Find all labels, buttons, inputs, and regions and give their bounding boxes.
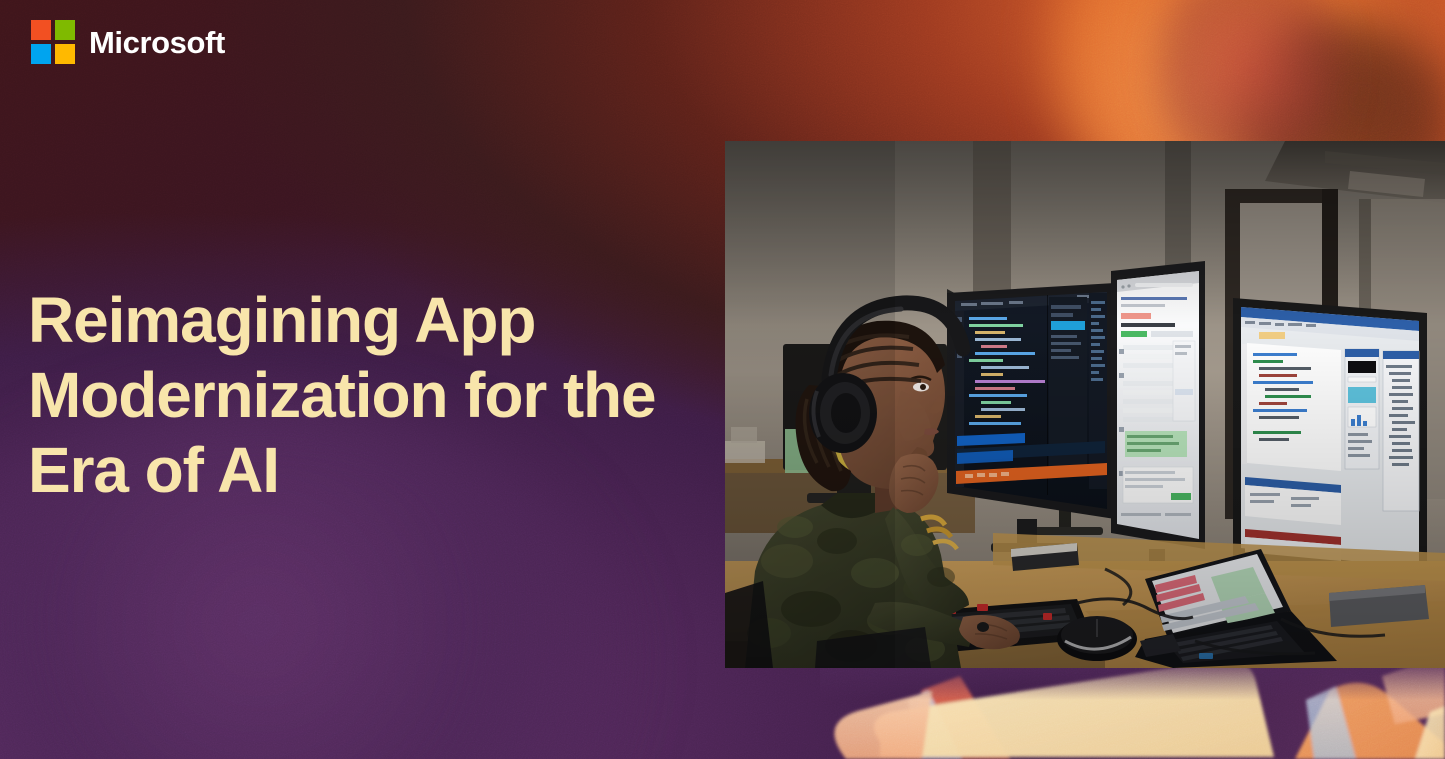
page-title: Reimagining App Modernization for the Er…: [28, 283, 708, 508]
microsoft-logo-icon: [31, 20, 75, 64]
office-developer-photo: [725, 141, 1445, 668]
square-top-left: [31, 20, 51, 40]
square-top-right: [55, 20, 75, 40]
microsoft-wordmark: Microsoft: [89, 27, 225, 58]
slide-root: Microsoft Reimagining App Modernization …: [0, 0, 1445, 759]
photo-illustration: [725, 141, 1445, 668]
square-bottom-right: [55, 44, 75, 64]
microsoft-logo[interactable]: Microsoft: [31, 20, 225, 64]
square-bottom-left: [31, 44, 51, 64]
